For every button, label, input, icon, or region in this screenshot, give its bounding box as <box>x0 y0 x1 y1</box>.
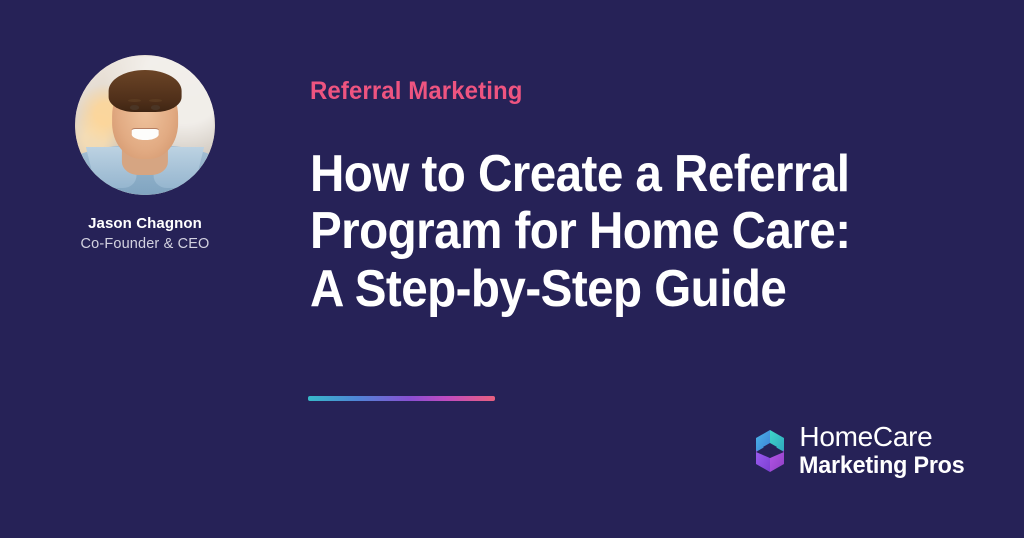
author-role: Co-Founder & CEO <box>81 236 210 252</box>
avatar <box>75 55 215 195</box>
brand-logo: HomeCare Marketing Pros <box>753 423 970 478</box>
author-name: Jason Chagnon <box>88 215 202 232</box>
avatar-hair <box>109 70 182 112</box>
avatar-smile <box>132 129 159 140</box>
article-category: Referral Marketing <box>310 78 924 106</box>
brand-name-top: HomeCare <box>799 423 970 451</box>
social-share-card: Jason Chagnon Co-Founder & CEO Referral … <box>0 0 1024 538</box>
article-headline: How to Create a Referral Program for Hom… <box>310 146 896 319</box>
article-content: Referral Marketing How to Create a Refer… <box>310 78 950 319</box>
author-block: Jason Chagnon Co-Founder & CEO <box>0 55 290 252</box>
brand-name-bottom: Marketing Pros <box>799 454 964 478</box>
gradient-divider <box>308 396 495 401</box>
brand-logo-text: HomeCare Marketing Pros <box>799 423 970 478</box>
homecare-cube-logo-mark-icon <box>753 428 787 474</box>
